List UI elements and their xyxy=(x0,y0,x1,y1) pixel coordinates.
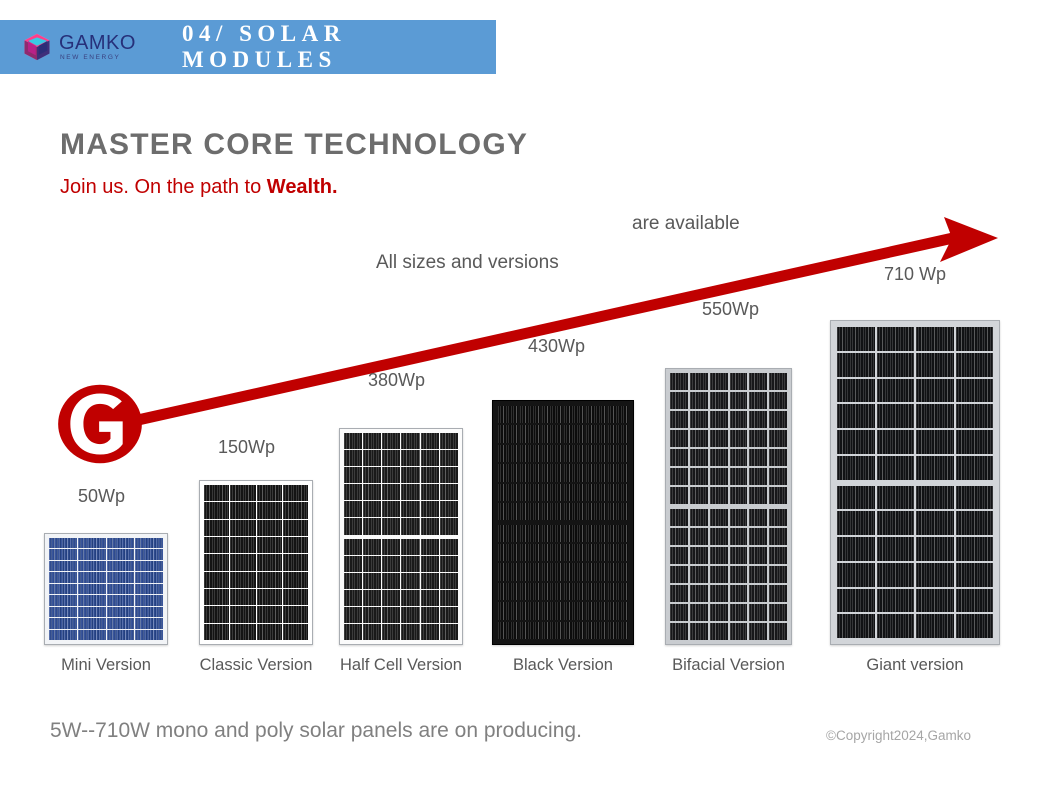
panel-cell-array xyxy=(204,485,308,640)
solar-cell xyxy=(956,511,994,535)
version-label-bifacial-version: Bifacial Version xyxy=(672,656,785,675)
solar-panel-classic-version[interactable] xyxy=(199,480,313,645)
solar-cell xyxy=(877,563,915,587)
solar-cell xyxy=(769,547,787,564)
solar-cell xyxy=(257,520,282,536)
solar-cell xyxy=(520,425,540,442)
solar-cell xyxy=(135,572,163,582)
solar-cell xyxy=(769,411,787,428)
solar-cell xyxy=(421,450,439,466)
solar-cell xyxy=(837,511,875,535)
solar-cell xyxy=(204,520,229,536)
solar-cell xyxy=(670,392,688,409)
solar-cell xyxy=(730,623,748,640)
solar-cell xyxy=(401,590,419,606)
watt-label-mini: 50Wp xyxy=(78,486,125,507)
solar-cell xyxy=(710,604,728,621)
solar-cell xyxy=(498,544,518,561)
solar-cell xyxy=(916,614,954,638)
solar-cell xyxy=(520,525,540,542)
solar-cell xyxy=(204,554,229,570)
panel-cell-array xyxy=(498,406,628,521)
solar-cell xyxy=(382,556,400,572)
solar-cell xyxy=(542,464,562,481)
solar-cell xyxy=(363,607,381,623)
solar-cell xyxy=(283,554,308,570)
watt-label-classic: 150Wp xyxy=(218,437,275,458)
solar-cell xyxy=(608,484,628,501)
solar-cell xyxy=(769,528,787,545)
version-label-classic-version: Classic Version xyxy=(200,656,313,675)
solar-cell xyxy=(956,537,994,561)
solar-cell xyxy=(608,464,628,481)
solar-cell xyxy=(670,430,688,447)
page-title: MASTER CORE TECHNOLOGY xyxy=(60,128,528,162)
solar-cell xyxy=(204,624,229,640)
solar-cell xyxy=(440,433,458,449)
solar-cell xyxy=(608,445,628,462)
solar-cell xyxy=(401,624,419,640)
solar-cell xyxy=(670,528,688,545)
solar-cell xyxy=(382,518,400,534)
solar-cell xyxy=(498,583,518,600)
solar-cell xyxy=(230,502,255,518)
solar-cell xyxy=(78,595,106,605)
solar-cell xyxy=(877,353,915,377)
solar-cell xyxy=(564,622,584,639)
solar-cell xyxy=(956,353,994,377)
solar-cell xyxy=(498,484,518,501)
solar-cell xyxy=(710,623,728,640)
solar-cell xyxy=(440,518,458,534)
solar-cell xyxy=(344,607,362,623)
solar-cell xyxy=(710,449,728,466)
solar-cell xyxy=(135,607,163,617)
solar-cell xyxy=(520,602,540,619)
solar-cell xyxy=(382,467,400,483)
solar-cell xyxy=(421,484,439,500)
solar-cell xyxy=(135,595,163,605)
solar-cell xyxy=(49,618,77,628)
solar-cell xyxy=(498,503,518,520)
solar-cell xyxy=(107,561,135,571)
solar-cell xyxy=(283,537,308,553)
solar-cell xyxy=(401,539,419,555)
solar-cell xyxy=(916,379,954,403)
solar-cell xyxy=(257,606,282,622)
header-bar: GAMKO NEW ENERGY 04/ SOLAR MODULES xyxy=(0,20,496,74)
solar-cell xyxy=(877,537,915,561)
solar-cell xyxy=(363,573,381,589)
solar-cell xyxy=(710,585,728,602)
annotation-are-available: are available xyxy=(632,213,740,235)
solar-cell xyxy=(769,449,787,466)
solar-cell xyxy=(564,503,584,520)
solar-cell xyxy=(363,539,381,555)
solar-cell xyxy=(401,433,419,449)
solar-cell xyxy=(49,572,77,582)
solar-cell xyxy=(749,509,767,526)
solar-cell xyxy=(520,583,540,600)
solar-cell xyxy=(363,433,381,449)
cube-logo-icon xyxy=(22,32,52,62)
copyright-text: ©Copyright2024,Gamko xyxy=(826,728,971,743)
solar-cell xyxy=(363,556,381,572)
solar-cell xyxy=(421,433,439,449)
solar-cell xyxy=(440,590,458,606)
section-title: 04/ SOLAR MODULES xyxy=(182,21,496,73)
solar-cell xyxy=(769,373,787,390)
solar-cell xyxy=(749,585,767,602)
subtitle-prefix: Join us. On the path to xyxy=(60,176,267,198)
solar-cell xyxy=(956,404,994,428)
solar-cell xyxy=(690,528,708,545)
solar-cell xyxy=(440,450,458,466)
solar-cell xyxy=(690,468,708,485)
solar-cell xyxy=(401,484,419,500)
solar-cell xyxy=(586,503,606,520)
solar-cell xyxy=(440,539,458,555)
panel-cell-array xyxy=(670,373,787,504)
annotation-all-sizes: All sizes and versions xyxy=(376,252,559,274)
solar-cell xyxy=(730,373,748,390)
solar-cell xyxy=(520,445,540,462)
logo-name: GAMKO xyxy=(59,33,136,53)
solar-cell xyxy=(710,566,728,583)
solar-cell xyxy=(49,595,77,605)
solar-cell xyxy=(877,486,915,510)
solar-cell xyxy=(421,573,439,589)
solar-cell xyxy=(421,539,439,555)
solar-cell xyxy=(710,430,728,447)
solar-cell xyxy=(135,630,163,640)
solar-cell xyxy=(440,484,458,500)
solar-cell xyxy=(956,430,994,454)
panel-cell-array xyxy=(344,433,458,535)
solar-cell xyxy=(520,622,540,639)
solar-cell xyxy=(382,433,400,449)
solar-cell xyxy=(230,572,255,588)
solar-cell xyxy=(916,456,954,480)
solar-cell xyxy=(78,538,106,548)
solar-cell xyxy=(730,468,748,485)
solar-cell xyxy=(564,525,584,542)
solar-cell xyxy=(135,618,163,628)
solar-cell xyxy=(690,604,708,621)
solar-cell xyxy=(916,563,954,587)
solar-cell xyxy=(749,373,767,390)
solar-cell xyxy=(283,502,308,518)
solar-cell xyxy=(204,502,229,518)
solar-cell xyxy=(769,487,787,504)
version-label-giant-version: Giant version xyxy=(866,656,963,675)
solar-cell xyxy=(586,525,606,542)
solar-cell xyxy=(564,445,584,462)
solar-cell xyxy=(710,411,728,428)
solar-panel-bifacial-version[interactable] xyxy=(665,368,792,645)
solar-cell xyxy=(382,573,400,589)
panel-cell-array xyxy=(49,538,163,640)
solar-cell xyxy=(107,572,135,582)
solar-cell xyxy=(344,518,362,534)
solar-cell xyxy=(690,566,708,583)
solar-cell xyxy=(421,590,439,606)
solar-cell xyxy=(690,547,708,564)
red-g-circle-icon xyxy=(56,383,144,465)
solar-cell xyxy=(542,406,562,423)
solar-cell xyxy=(78,572,106,582)
solar-cell xyxy=(542,503,562,520)
panel-glass xyxy=(340,429,462,644)
solar-cell xyxy=(542,484,562,501)
panel-cell-array xyxy=(837,486,993,639)
solar-cell xyxy=(877,404,915,428)
panel-cell-array xyxy=(344,539,458,641)
solar-cell xyxy=(749,449,767,466)
solar-cell xyxy=(344,484,362,500)
solar-cell xyxy=(670,509,688,526)
solar-cell xyxy=(498,425,518,442)
solar-cell xyxy=(204,606,229,622)
solar-cell xyxy=(749,566,767,583)
solar-cell xyxy=(837,537,875,561)
solar-cell xyxy=(230,554,255,570)
solar-cell xyxy=(401,573,419,589)
solar-cell xyxy=(608,406,628,423)
solar-cell xyxy=(769,604,787,621)
solar-cell xyxy=(749,604,767,621)
solar-cell xyxy=(670,566,688,583)
solar-cell xyxy=(78,549,106,559)
solar-cell xyxy=(440,607,458,623)
solar-cell xyxy=(421,607,439,623)
solar-cell xyxy=(230,520,255,536)
solar-cell xyxy=(710,373,728,390)
solar-cell xyxy=(49,561,77,571)
solar-cell xyxy=(204,572,229,588)
solar-cell xyxy=(421,467,439,483)
solar-panel-giant-version[interactable] xyxy=(830,320,1000,645)
solar-cell xyxy=(837,404,875,428)
solar-cell xyxy=(586,425,606,442)
solar-cell xyxy=(135,561,163,571)
solar-cell xyxy=(837,614,875,638)
subtitle-emphasis: Wealth. xyxy=(267,176,338,198)
solar-cell xyxy=(956,379,994,403)
solar-cell xyxy=(877,614,915,638)
solar-cell xyxy=(586,583,606,600)
solar-cell xyxy=(49,549,77,559)
solar-cell xyxy=(586,544,606,561)
solar-cell xyxy=(608,425,628,442)
solar-cell xyxy=(670,585,688,602)
solar-cell xyxy=(586,622,606,639)
solar-cell xyxy=(586,484,606,501)
solar-cell xyxy=(344,573,362,589)
solar-cell xyxy=(730,449,748,466)
solar-cell xyxy=(107,618,135,628)
solar-cell xyxy=(586,445,606,462)
solar-cell xyxy=(956,614,994,638)
solar-cell xyxy=(837,589,875,613)
solar-cell xyxy=(78,607,106,617)
solar-cell xyxy=(916,353,954,377)
watt-label-black: 430Wp xyxy=(528,336,585,357)
solar-cell xyxy=(49,607,77,617)
solar-cell xyxy=(690,430,708,447)
solar-cell xyxy=(837,430,875,454)
solar-panel-half-cell-version[interactable] xyxy=(339,428,463,645)
solar-cell xyxy=(382,539,400,555)
solar-cell xyxy=(344,590,362,606)
solar-cell xyxy=(440,556,458,572)
panel-glass xyxy=(45,534,167,644)
solar-cell xyxy=(230,485,255,501)
solar-cell xyxy=(440,467,458,483)
panel-cell-array xyxy=(670,509,787,640)
solar-cell xyxy=(382,501,400,517)
footer-tagline: 5W--710W mono and poly solar panels are … xyxy=(50,719,582,743)
solar-cell xyxy=(204,485,229,501)
solar-cell xyxy=(586,563,606,580)
solar-cell xyxy=(421,518,439,534)
solar-cell xyxy=(564,425,584,442)
solar-cell xyxy=(916,511,954,535)
solar-cell xyxy=(107,538,135,548)
solar-cell xyxy=(586,464,606,481)
solar-cell xyxy=(730,585,748,602)
solar-cell xyxy=(107,549,135,559)
solar-cell xyxy=(283,520,308,536)
solar-cell xyxy=(344,539,362,555)
solar-cell xyxy=(670,411,688,428)
solar-cell xyxy=(401,450,419,466)
solar-cell xyxy=(877,511,915,535)
solar-cell xyxy=(421,624,439,640)
solar-panel-mini-version[interactable] xyxy=(44,533,168,645)
solar-cell xyxy=(837,353,875,377)
solar-cell xyxy=(421,556,439,572)
solar-cell xyxy=(520,563,540,580)
solar-cell xyxy=(135,538,163,548)
solar-cell xyxy=(283,606,308,622)
solar-cell xyxy=(257,537,282,553)
solar-cell xyxy=(769,509,787,526)
solar-cell xyxy=(749,411,767,428)
version-label-half-cell-version: Half Cell Version xyxy=(340,656,462,675)
solar-cell xyxy=(382,484,400,500)
solar-cell xyxy=(520,544,540,561)
logo-tagline: NEW ENERGY xyxy=(60,55,136,62)
solar-cell xyxy=(363,624,381,640)
solar-cell xyxy=(520,503,540,520)
solar-cell xyxy=(730,566,748,583)
solar-cell xyxy=(749,547,767,564)
solar-cell xyxy=(769,585,787,602)
solar-cell xyxy=(344,467,362,483)
solar-cell xyxy=(916,430,954,454)
solar-cell xyxy=(283,485,308,501)
solar-cell xyxy=(107,607,135,617)
solar-cell xyxy=(363,501,381,517)
solar-cell xyxy=(670,623,688,640)
solar-cell xyxy=(877,430,915,454)
solar-cell xyxy=(730,411,748,428)
solar-cell xyxy=(230,537,255,553)
solar-cell xyxy=(956,456,994,480)
solar-cell xyxy=(107,630,135,640)
solar-cell xyxy=(564,563,584,580)
solar-cell xyxy=(710,487,728,504)
solar-cell xyxy=(690,585,708,602)
page-subtitle: Join us. On the path to Wealth. xyxy=(60,176,338,199)
solar-cell xyxy=(401,467,419,483)
solar-cell xyxy=(498,445,518,462)
watt-label-halfcell: 380Wp xyxy=(368,370,425,391)
solar-cell xyxy=(877,379,915,403)
solar-cell xyxy=(730,528,748,545)
solar-cell xyxy=(769,623,787,640)
brand-logo[interactable]: GAMKO NEW ENERGY xyxy=(22,32,136,62)
solar-cell xyxy=(749,430,767,447)
version-label-black-version: Black Version xyxy=(513,656,613,675)
solar-cell xyxy=(916,327,954,351)
solar-cell xyxy=(749,468,767,485)
solar-cell xyxy=(670,547,688,564)
solar-cell xyxy=(710,509,728,526)
solar-cell xyxy=(230,624,255,640)
solar-cell xyxy=(690,373,708,390)
solar-cell xyxy=(440,624,458,640)
solar-cell xyxy=(230,606,255,622)
solar-cell xyxy=(837,327,875,351)
solar-cell xyxy=(690,623,708,640)
solar-cell xyxy=(135,549,163,559)
solar-cell xyxy=(608,563,628,580)
slide-canvas: GAMKO NEW ENERGY 04/ SOLAR MODULES MASTE… xyxy=(0,0,1060,795)
solar-cell xyxy=(670,468,688,485)
solar-cell xyxy=(542,525,562,542)
solar-cell xyxy=(520,484,540,501)
panel-glass xyxy=(666,369,791,644)
solar-cell xyxy=(49,538,77,548)
solar-cell xyxy=(956,563,994,587)
solar-cell xyxy=(363,590,381,606)
watt-label-bifacial: 550Wp xyxy=(702,299,759,320)
solar-cell xyxy=(837,486,875,510)
solar-cell xyxy=(670,373,688,390)
solar-cell xyxy=(769,392,787,409)
solar-cell xyxy=(769,566,787,583)
solar-cell xyxy=(401,501,419,517)
solar-cell xyxy=(690,411,708,428)
solar-cell xyxy=(690,509,708,526)
solar-cell xyxy=(204,589,229,605)
solar-cell xyxy=(78,618,106,628)
solar-cell xyxy=(837,379,875,403)
solar-cell xyxy=(769,468,787,485)
solar-cell xyxy=(382,450,400,466)
solar-cell xyxy=(564,406,584,423)
solar-panel-black-version[interactable] xyxy=(492,400,634,645)
solar-cell xyxy=(730,604,748,621)
solar-cell xyxy=(257,502,282,518)
solar-cell xyxy=(690,392,708,409)
solar-cell xyxy=(401,518,419,534)
solar-cell xyxy=(690,449,708,466)
solar-cell xyxy=(49,584,77,594)
solar-cell xyxy=(78,630,106,640)
